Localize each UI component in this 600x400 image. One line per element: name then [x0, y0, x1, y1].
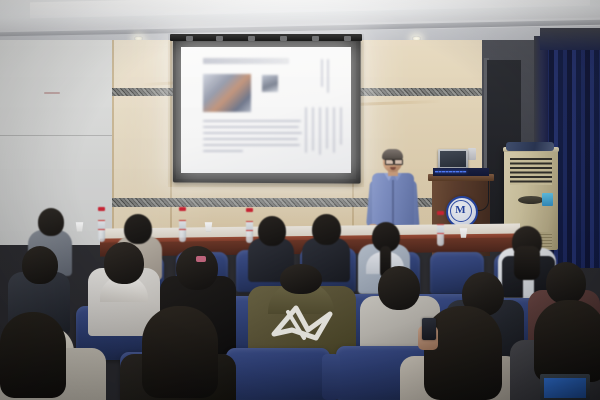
slide-vertical-text: [321, 59, 323, 87]
marble-seam: [170, 40, 172, 245]
bottle-body: [179, 220, 186, 242]
marble-seam: [112, 40, 114, 245]
eyeglasses-right-lens: [394, 159, 403, 165]
bottle-cap: [437, 211, 444, 215]
laptop-screen: [544, 378, 586, 398]
panel-seam: [0, 135, 118, 136]
curtain-header: [540, 28, 600, 50]
slide-body-line: [203, 120, 301, 122]
person-head-hair: [534, 300, 600, 382]
person-head: [104, 242, 144, 284]
laptop-screen: [440, 151, 466, 167]
long-hair: [514, 246, 540, 280]
person-head-hair: [142, 306, 218, 398]
slide-vertical-text: [326, 107, 328, 149]
slide-photo-secondary: [262, 75, 278, 92]
person-head: [546, 262, 586, 304]
bottle-label: [246, 221, 253, 231]
person-head: [312, 214, 341, 245]
bottle-cap: [98, 207, 105, 211]
roller-clip: [248, 36, 255, 41]
roller-clip: [344, 36, 351, 41]
energy-label: [542, 193, 553, 206]
person-head: [176, 246, 218, 290]
water-bottle: [98, 207, 105, 242]
person-head: [280, 264, 322, 294]
screen-roller-housing: [170, 34, 362, 41]
wall-scuff: [44, 92, 60, 94]
slide-vertical-text: [333, 107, 335, 153]
slide-vertical-text: [312, 107, 314, 151]
bottle-body: [98, 220, 105, 242]
slide-body-line: [203, 150, 243, 152]
presentation-slide: [181, 47, 351, 173]
person-head: [38, 208, 64, 236]
eyeglasses-bridge: [392, 160, 394, 161]
wall-socket: [468, 148, 476, 160]
person-head-hair: [0, 312, 66, 398]
seat-armrest: [322, 354, 340, 400]
person-head: [124, 214, 152, 244]
roller-clip: [216, 36, 223, 41]
slide-body-line: [203, 132, 302, 134]
slide-vertical-text: [327, 59, 329, 93]
person-head: [22, 246, 58, 284]
bottle-label: [437, 224, 444, 234]
bottle-body: [246, 221, 253, 243]
roller-clip: [280, 36, 287, 41]
led-banner-display: ▬▬▬▬▬▬▬▬▬: [433, 168, 489, 176]
roller-clip: [312, 36, 319, 41]
bottle-cap: [246, 208, 253, 212]
person-head: [378, 266, 420, 310]
water-bottle: [246, 208, 253, 243]
slide-body-line: [203, 126, 299, 128]
water-bottle: [437, 211, 444, 246]
granite-band-lower: [112, 198, 484, 207]
lecture-hall-photo: ▬▬▬▬▬▬▬▬▬ M: [0, 0, 600, 400]
slide-photo: [203, 74, 251, 112]
hoodie-graphic-print: [266, 300, 340, 348]
slide-vertical-text: [305, 107, 307, 153]
slide-vertical-text: [340, 107, 342, 145]
water-bottle: [179, 207, 186, 242]
roller-clip: [186, 36, 193, 41]
theater-seat: [226, 348, 330, 400]
air-conditioner-vent: [518, 196, 544, 204]
phone: [422, 318, 436, 340]
slide-body-line: [203, 138, 298, 140]
projection-screen-surface: [181, 47, 351, 173]
cloth-on-ac: [506, 142, 554, 151]
bottle-label: [98, 220, 105, 230]
bottle-body: [437, 224, 444, 246]
slide-title-text: [203, 58, 289, 64]
emblem-letter: M: [450, 201, 470, 219]
bottle-cap: [179, 207, 186, 211]
bottle-label: [179, 220, 186, 230]
air-conditioner-grille: [510, 158, 552, 185]
hair-clip: [196, 256, 206, 262]
person-head: [258, 216, 286, 246]
slide-body-line: [203, 144, 300, 146]
slide-vertical-text: [319, 107, 321, 155]
led-banner-text: ▬▬▬▬▬▬▬▬▬: [433, 168, 489, 176]
